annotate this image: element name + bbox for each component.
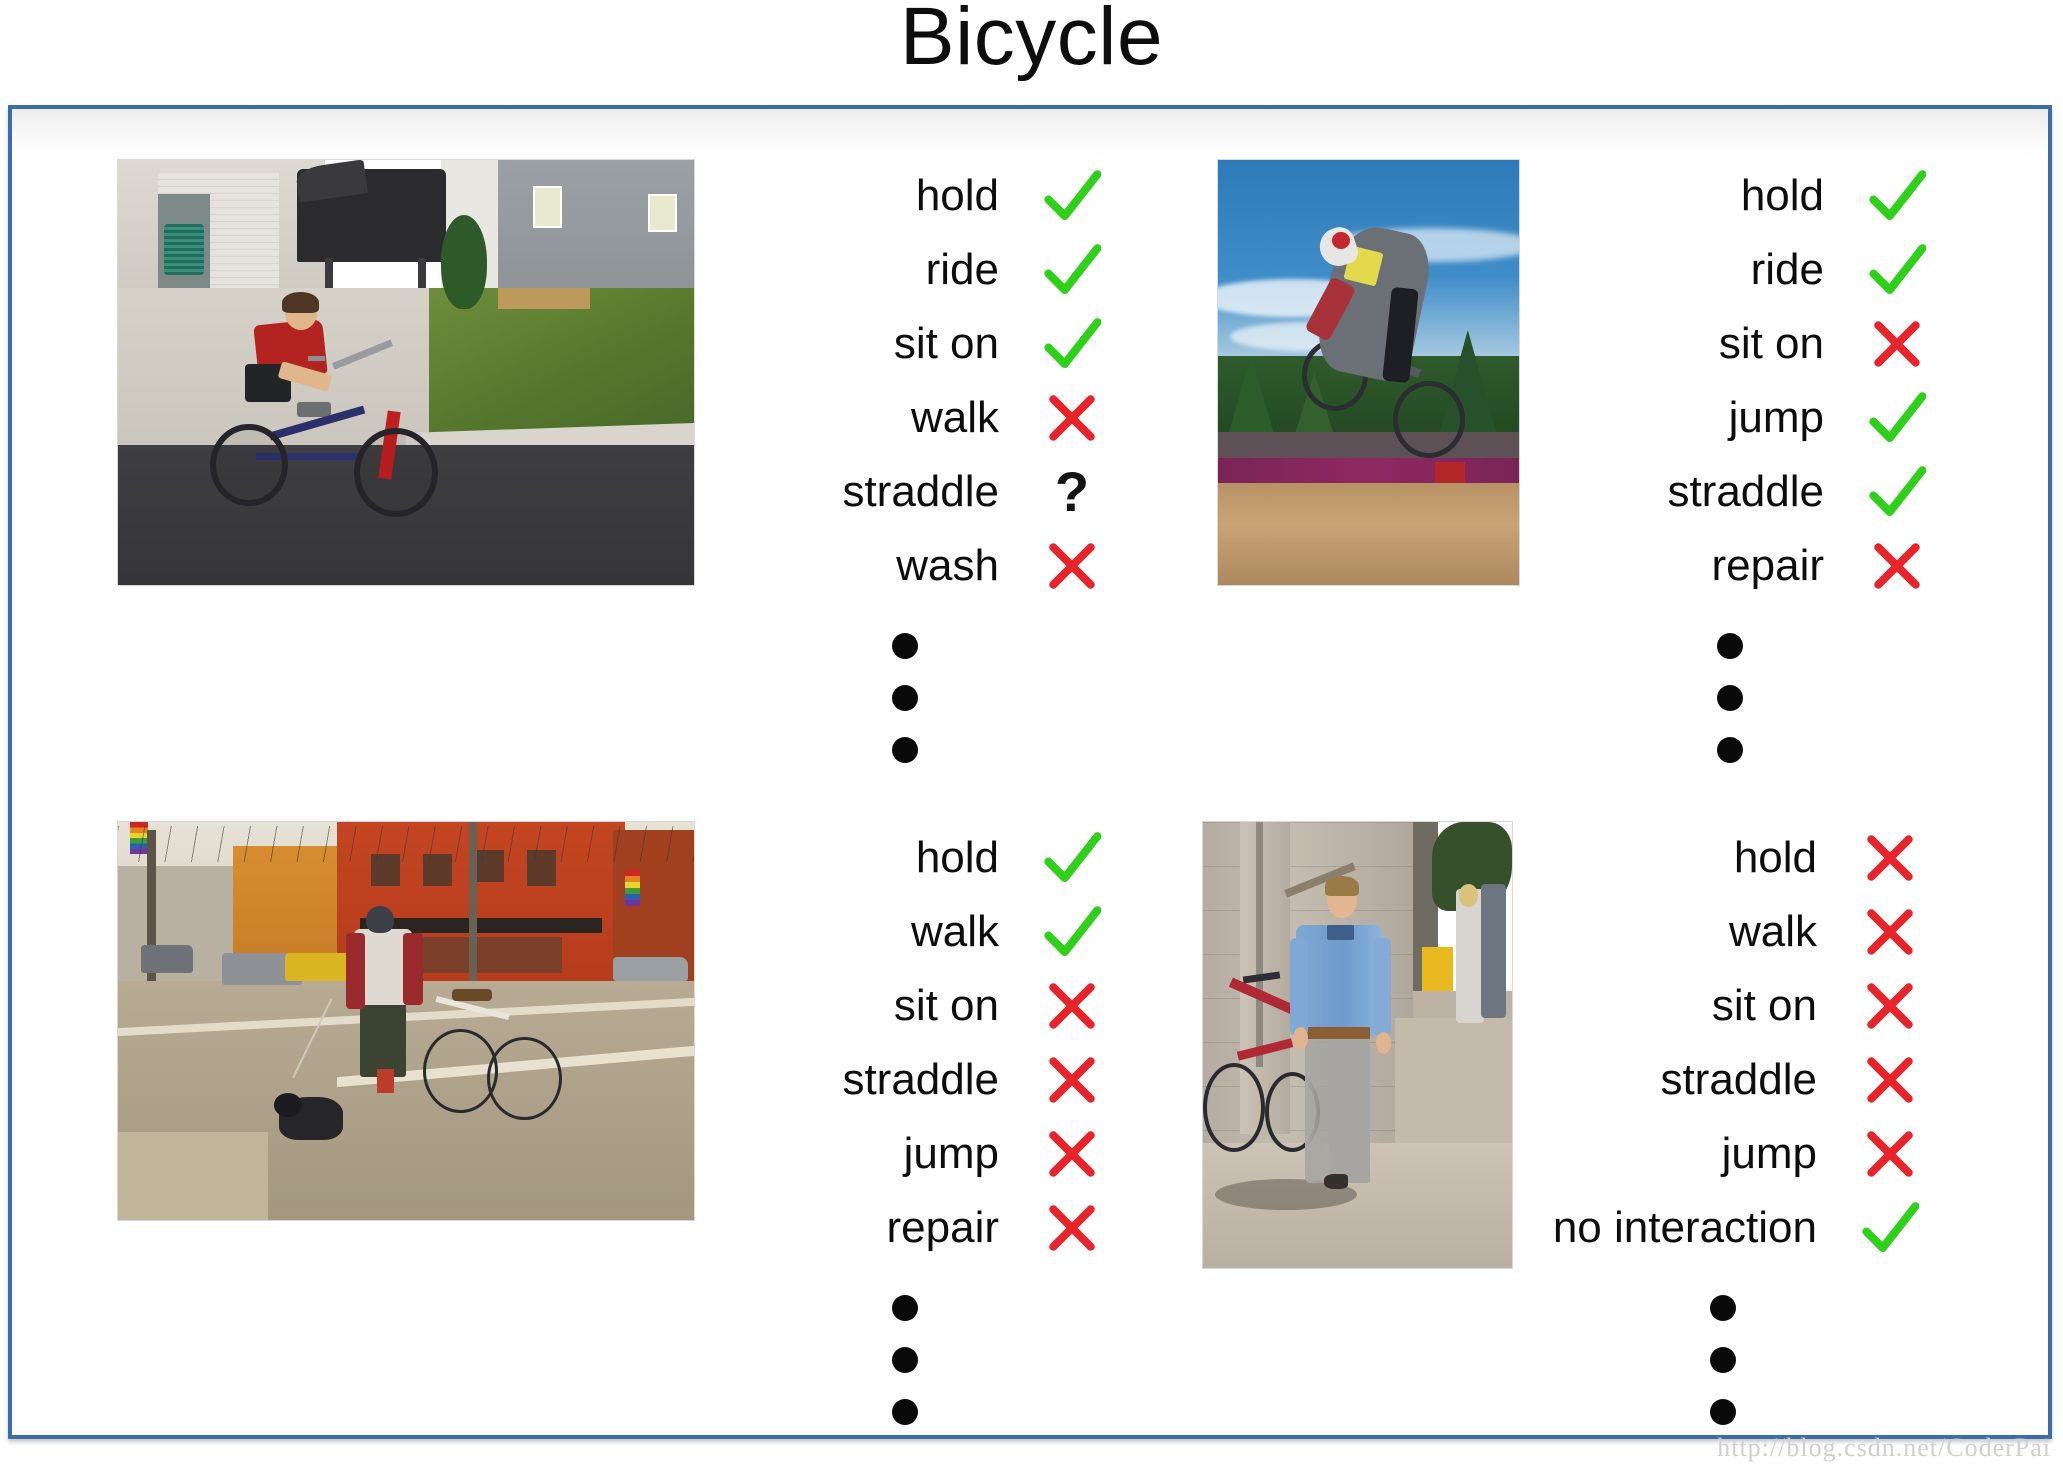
verdict-mark: [1854, 540, 1940, 592]
verdict-mark: [1847, 832, 1933, 884]
check-icon: [1043, 241, 1101, 299]
ellipsis-dot: [1717, 685, 1743, 711]
ellipsis-dot: [1717, 737, 1743, 763]
panel-bottom-left: holdwalksit onstraddlejumprepair: [117, 821, 1115, 1425]
slide-root: Bicycle: [0, 0, 2063, 1471]
verdict-row: jump: [695, 1117, 1115, 1191]
verdict-label-cell: hold: [1520, 174, 1854, 218]
verdict-label-cell: hold: [1513, 836, 1847, 880]
verdict-label: hold: [1741, 171, 1824, 220]
verdict-rows: holdwalksit onstraddlejumpno interaction: [1513, 821, 1933, 1265]
verdict-row: jump: [1520, 381, 1940, 455]
verdict-label: hold: [1734, 833, 1817, 882]
verdict-row: repair: [1520, 529, 1940, 603]
verdict-mark: [1029, 167, 1115, 225]
cross-icon: [1864, 980, 1916, 1032]
cross-icon: [1864, 1054, 1916, 1106]
check-icon: [1861, 1199, 1919, 1257]
verdict-label-cell: jump: [1520, 396, 1854, 440]
verdict-mark: [1029, 392, 1115, 444]
verdict-label: wash: [896, 541, 999, 590]
verdict-row: straddle?: [695, 455, 1115, 529]
verdict-row: ride: [1520, 233, 1940, 307]
verdict-label-cell: ride: [695, 248, 1029, 292]
verdict-label: walk: [1729, 907, 1817, 956]
verdict-mark: [1854, 318, 1940, 370]
ellipsis-dot: [1717, 633, 1743, 659]
cross-icon: [1046, 1128, 1098, 1180]
cross-icon: [1871, 540, 1923, 592]
verdict-mark: ?: [1029, 464, 1115, 520]
verdict-label: hold: [916, 833, 999, 882]
verdict-row: hold: [1513, 821, 1933, 895]
image-boy-riding-bmx-bike-in-driveway: [117, 159, 695, 586]
cross-icon: [1046, 980, 1098, 1032]
verdict-row: sit on: [695, 969, 1115, 1043]
cross-icon: [1046, 540, 1098, 592]
vertical-ellipsis-icon: [695, 633, 1115, 763]
check-icon: [1868, 167, 1926, 225]
verdict-row: jump: [1513, 1117, 1933, 1191]
verdict-label-cell: sit on: [1513, 984, 1847, 1028]
verdict-label: ride: [1751, 245, 1824, 294]
verdict-mark: [1029, 315, 1115, 373]
verdict-mark: [1847, 906, 1933, 958]
check-icon: [1043, 903, 1101, 961]
verdict-label-cell: ride: [1520, 248, 1854, 292]
verdict-mark: [1854, 167, 1940, 225]
verdict-mark: [1854, 389, 1940, 447]
vertical-ellipsis-icon: [1513, 1295, 1933, 1425]
image-man-walking-past-parked-red-bicycle: [1202, 821, 1513, 1269]
vertical-ellipsis-icon: [1520, 633, 1940, 763]
verdict-label-cell: hold: [695, 174, 1029, 218]
verdict-row: ride: [695, 233, 1115, 307]
verdict-mark: [1029, 1054, 1115, 1106]
question-mark-icon: ?: [1029, 464, 1115, 520]
verdict-mark: [1847, 980, 1933, 1032]
panel-bottom-right: holdwalksit onstraddlejumpno interaction: [1202, 821, 1933, 1425]
verdict-label: walk: [911, 393, 999, 442]
verdict-mark: [1029, 1128, 1115, 1180]
verdict-label: walk: [911, 907, 999, 956]
verdict-row: walk: [1513, 895, 1933, 969]
ellipsis-dot: [1710, 1347, 1736, 1373]
ellipsis-dot: [892, 633, 918, 659]
cross-icon: [1046, 1202, 1098, 1254]
verdict-list-top-right: holdridesit onjumpstraddlerepair: [1520, 159, 1940, 763]
cross-icon: [1864, 1128, 1916, 1180]
verdict-row: straddle: [695, 1043, 1115, 1117]
verdict-label-cell: sit on: [695, 322, 1029, 366]
verdict-mark: [1029, 1202, 1115, 1254]
check-icon: [1868, 241, 1926, 299]
panel-top-right: holdridesit onjumpstraddlerepair: [1217, 159, 1940, 763]
verdict-label: straddle: [1660, 1055, 1817, 1104]
verdict-row: repair: [695, 1191, 1115, 1265]
verdict-label-cell: straddle: [1513, 1058, 1847, 1102]
verdict-list-bottom-left: holdwalksit onstraddlejumprepair: [695, 821, 1115, 1425]
verdict-label: sit on: [1712, 981, 1817, 1030]
verdict-mark: [1854, 241, 1940, 299]
verdict-label-cell: jump: [695, 1132, 1029, 1176]
verdict-mark: [1847, 1199, 1933, 1257]
image-person-walking-bicycle-with-dog-at-street-corner: [117, 821, 695, 1221]
verdict-label: hold: [916, 171, 999, 220]
content-frame: holdridesit onwalkstraddle?wash h: [8, 105, 2052, 1439]
verdict-mark: [1854, 463, 1940, 521]
verdict-list-bottom-right: holdwalksit onstraddlejumpno interaction: [1513, 821, 1933, 1425]
check-icon: [1868, 463, 1926, 521]
verdict-row: straddle: [1513, 1043, 1933, 1117]
verdict-label: straddle: [842, 1055, 999, 1104]
check-icon: [1043, 167, 1101, 225]
ellipsis-dot: [892, 1399, 918, 1425]
verdict-label-cell: wash: [695, 544, 1029, 588]
verdict-label: ride: [926, 245, 999, 294]
verdict-label: jump: [904, 1129, 999, 1178]
verdict-rows: holdwalksit onstraddlejumprepair: [695, 821, 1115, 1265]
verdict-label: no interaction: [1553, 1203, 1817, 1252]
cross-icon: [1046, 392, 1098, 444]
verdict-row: walk: [695, 381, 1115, 455]
verdict-mark: [1029, 829, 1115, 887]
source-watermark: http://blog.csdn.net/CoderPai: [1717, 1433, 2051, 1463]
verdict-label: straddle: [842, 467, 999, 516]
cross-icon: [1864, 906, 1916, 958]
vertical-ellipsis-icon: [695, 1295, 1115, 1425]
verdict-label-cell: sit on: [1520, 322, 1854, 366]
verdict-row: hold: [695, 821, 1115, 895]
verdict-row: hold: [695, 159, 1115, 233]
ellipsis-dot: [1710, 1295, 1736, 1321]
verdict-label: straddle: [1667, 467, 1824, 516]
verdict-label: sit on: [1719, 319, 1824, 368]
verdict-mark: [1847, 1054, 1933, 1106]
verdict-label: repair: [887, 1203, 1000, 1252]
verdict-list-top-left: holdridesit onwalkstraddle?wash: [695, 159, 1115, 763]
verdict-label-cell: straddle: [1520, 470, 1854, 514]
verdict-mark: [1847, 1128, 1933, 1180]
ellipsis-dot: [892, 1347, 918, 1373]
verdict-rows: holdridesit onjumpstraddlerepair: [1520, 159, 1940, 603]
verdict-rows: holdridesit onwalkstraddle?wash: [695, 159, 1115, 603]
verdict-label-cell: jump: [1513, 1132, 1847, 1176]
cross-icon: [1864, 832, 1916, 884]
verdict-mark: [1029, 540, 1115, 592]
verdict-label: jump: [1722, 1129, 1817, 1178]
panel-grid: holdridesit onwalkstraddle?wash h: [12, 109, 2048, 1435]
check-icon: [1043, 829, 1101, 887]
verdict-label-cell: walk: [695, 396, 1029, 440]
verdict-mark: [1029, 241, 1115, 299]
verdict-label-cell: straddle: [695, 470, 1029, 514]
cross-icon: [1046, 1054, 1098, 1106]
verdict-label-cell: walk: [695, 910, 1029, 954]
verdict-row: wash: [695, 529, 1115, 603]
verdict-mark: [1029, 903, 1115, 961]
cross-icon: [1871, 318, 1923, 370]
verdict-label-cell: hold: [695, 836, 1029, 880]
verdict-label: repair: [1712, 541, 1825, 590]
verdict-label-cell: repair: [1520, 544, 1854, 588]
verdict-label-cell: repair: [695, 1206, 1029, 1250]
verdict-label-cell: no interaction: [1513, 1206, 1847, 1250]
verdict-label: sit on: [894, 981, 999, 1030]
verdict-label-cell: walk: [1513, 910, 1847, 954]
panel-top-left: holdridesit onwalkstraddle?wash: [117, 159, 1115, 763]
verdict-row: straddle: [1520, 455, 1940, 529]
ellipsis-dot: [1710, 1399, 1736, 1425]
verdict-row: sit on: [1513, 969, 1933, 1043]
page-title: Bicycle: [0, 0, 2063, 82]
verdict-row: no interaction: [1513, 1191, 1933, 1265]
check-icon: [1868, 389, 1926, 447]
check-icon: [1043, 315, 1101, 373]
ellipsis-dot: [892, 737, 918, 763]
ellipsis-dot: [892, 1295, 918, 1321]
verdict-mark: [1029, 980, 1115, 1032]
verdict-label: jump: [1729, 393, 1824, 442]
ellipsis-dot: [892, 685, 918, 711]
verdict-label: sit on: [894, 319, 999, 368]
verdict-row: walk: [695, 895, 1115, 969]
verdict-label-cell: straddle: [695, 1058, 1029, 1102]
verdict-row: hold: [1520, 159, 1940, 233]
verdict-row: sit on: [1520, 307, 1940, 381]
verdict-label-cell: sit on: [695, 984, 1029, 1028]
image-mountain-biker-jumping-over-dirt-track: [1217, 159, 1520, 586]
verdict-row: sit on: [695, 307, 1115, 381]
